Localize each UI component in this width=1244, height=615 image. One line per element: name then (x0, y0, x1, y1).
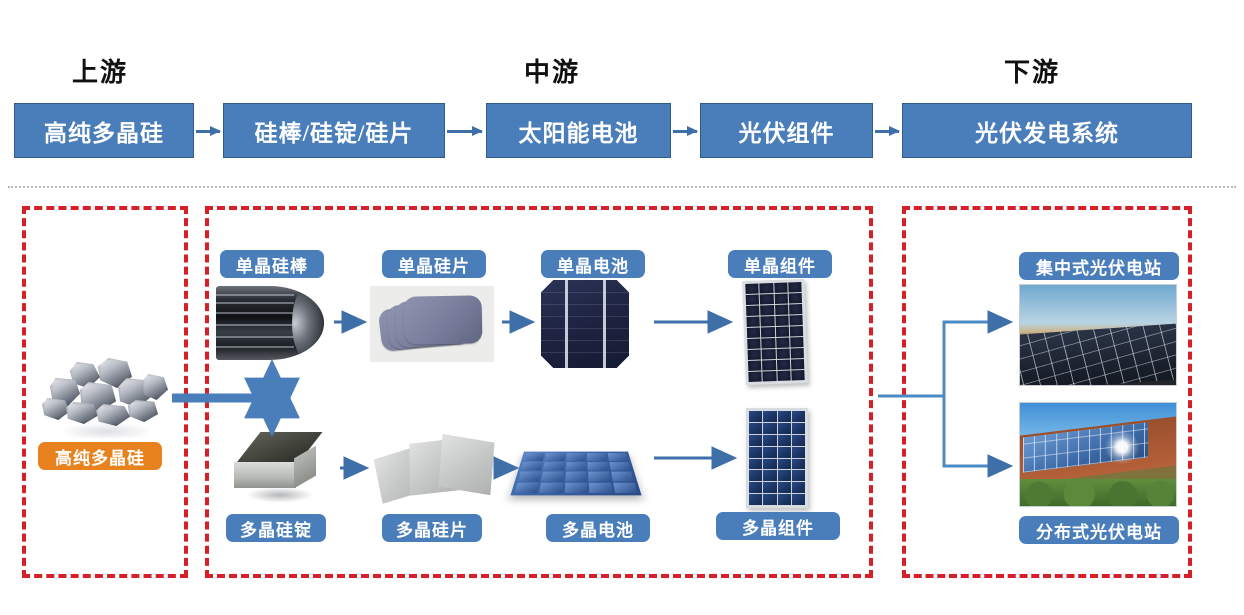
chain-box-solar-cell[interactable]: 太阳能电池 (486, 103, 671, 158)
label-poly-wafer: 多晶硅片 (382, 514, 482, 542)
section-divider (8, 186, 1236, 188)
label-upstream-polysilicon: 高纯多晶硅 (38, 442, 162, 470)
chain-box-ingot-wafer[interactable]: 硅棒/硅锭/硅片 (223, 103, 445, 158)
photo-rooftop-distributed-pv (1019, 402, 1177, 507)
label-utility-scale-pv-plant: 集中式光伏电站 (1019, 252, 1179, 280)
label-mono-module: 单晶组件 (728, 250, 832, 278)
art-poly-wafers (374, 428, 498, 508)
art-mono-cell (541, 280, 629, 368)
art-mono-module (742, 279, 808, 385)
art-mono-wafers (370, 286, 494, 362)
art-polysilicon-chunks (36, 356, 176, 438)
label-poly-ingot: 多晶硅锭 (226, 514, 326, 542)
chain-box-pv-power-system[interactable]: 光伏发电系统 (902, 103, 1192, 158)
label-distributed-pv-plant: 分布式光伏电站 (1019, 516, 1179, 544)
label-mono-cell: 单晶电池 (541, 250, 645, 278)
label-mono-silicon-rod: 单晶硅棒 (220, 250, 324, 278)
chain-arrow-1 (196, 130, 220, 133)
art-poly-module (746, 408, 808, 508)
photo-utility-scale-pv-plant (1019, 284, 1177, 386)
supply-chain-diagram: 上游 中游 下游 高纯多晶硅 硅棒/硅锭/硅片 太阳能电池 光伏组件 光伏发电系… (0, 0, 1244, 615)
art-poly-ingot (228, 430, 328, 508)
art-poly-cell (510, 452, 641, 496)
chain-arrow-3 (673, 130, 697, 133)
chain-arrow-4 (875, 130, 899, 133)
chain-box-pv-module[interactable]: 光伏组件 (700, 103, 873, 158)
chain-arrow-2 (447, 130, 482, 133)
label-poly-module: 多晶组件 (716, 512, 840, 540)
label-poly-cell: 多晶电池 (546, 514, 650, 542)
stage-heading-midstream: 中游 (492, 52, 612, 89)
chain-box-polysilicon[interactable]: 高纯多晶硅 (14, 103, 194, 158)
art-mono-silicon-rod (216, 286, 324, 360)
stage-heading-downstream: 下游 (972, 52, 1092, 89)
label-mono-wafer: 单晶硅片 (382, 250, 486, 278)
stage-heading-upstream: 上游 (40, 52, 160, 89)
